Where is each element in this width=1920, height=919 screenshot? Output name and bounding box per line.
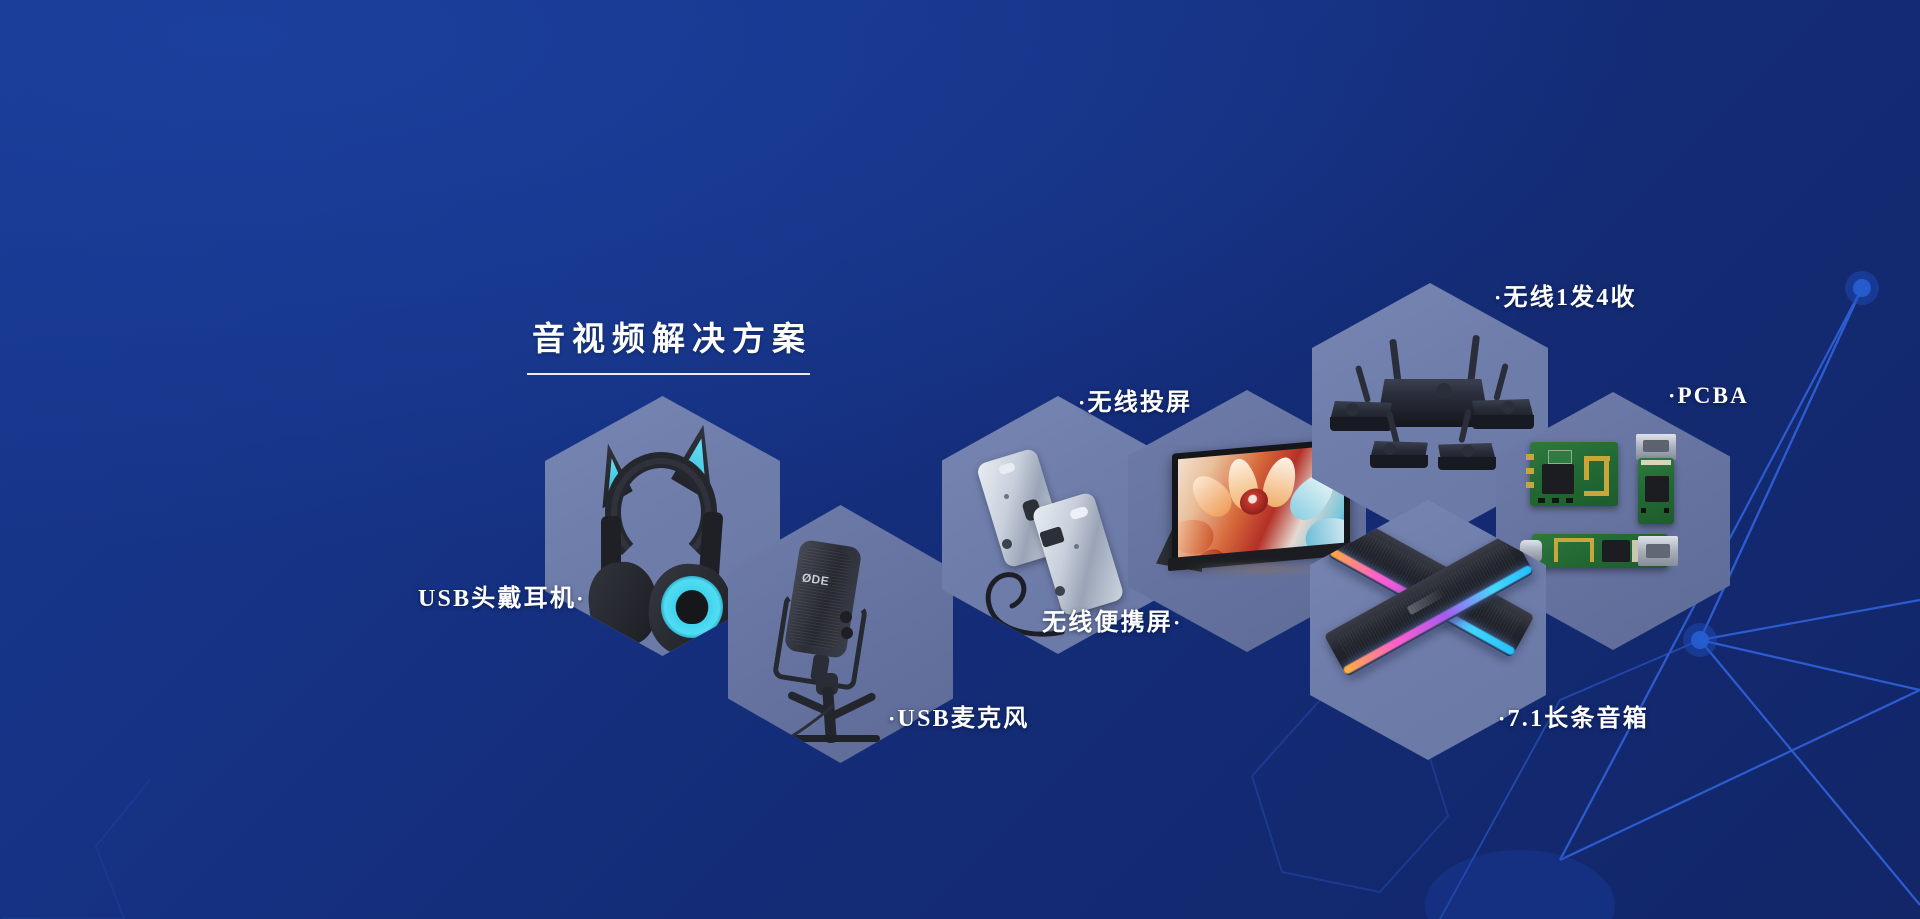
page-title: 音视频解决方案 [527,312,817,360]
label-usb-headset-text: USB头戴耳机 [418,586,576,612]
label-usb-microphone-text: USB麦克风 [898,706,1030,732]
label-usb-headset[interactable]: USB头戴耳机· [418,578,586,613]
label-usb-microphone[interactable]: ·USB麦克风 [888,698,1029,733]
label-pcba[interactable]: ·PCBA [1668,383,1749,409]
label-usb-microphone-bullet: · [888,706,898,731]
label-soundbar-bullet: · [1498,706,1508,731]
page-title-block: 音视频解决方案 [527,312,817,375]
label-wireless-casting[interactable]: ·无线投屏 [1078,382,1192,417]
label-wireless-casting-text: 无线投屏 [1088,390,1193,416]
label-portable-screen-bullet: · [1173,610,1183,635]
label-soundbar[interactable]: ·7.1长条音箱 [1498,698,1649,733]
audio-video-solutions-banner: ØDE [0,0,1920,919]
label-soundbar-text: 7.1长条音箱 [1508,706,1649,732]
label-usb-headset-bullet: · [576,586,586,611]
title-underline [527,373,810,375]
label-portable-screen[interactable]: 无线便携屏· [1042,602,1183,637]
label-wireless-casting-bullet: · [1078,390,1088,415]
label-pcba-text: PCBA [1678,383,1749,408]
label-wireless-1t4r-bullet: · [1494,285,1504,310]
label-pcba-bullet: · [1668,383,1678,408]
label-portable-screen-text: 无线便携屏 [1042,610,1173,636]
label-wireless-1t4r-text: 无线1发4收 [1504,285,1637,311]
label-wireless-1t4r[interactable]: ·无线1发4收 [1494,277,1637,312]
